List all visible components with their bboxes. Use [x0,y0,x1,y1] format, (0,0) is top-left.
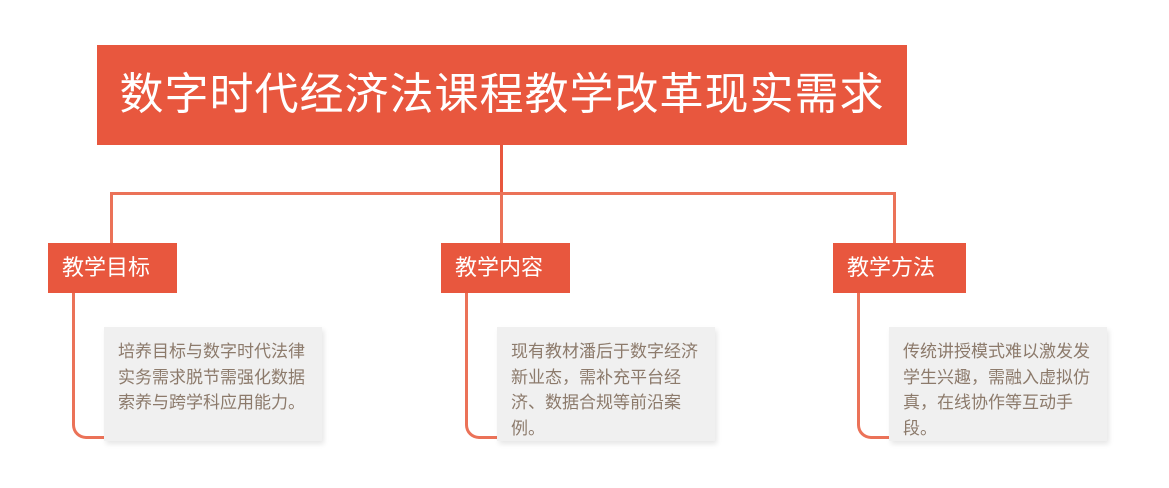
branch-node-label: 教学目标 [62,257,150,279]
branch-node-label: 教学内容 [455,257,543,279]
detail-card-teaching-content: 现有教材潘后于数字经济新业态，需补充平台经济、数据合规等前沿案例。 [497,327,715,441]
detail-card-teaching-methods: 传统讲授模式难以激发发学生兴趣，需融入虚拟仿真，在线协作等互动手段。 [889,327,1107,441]
detail-card-text: 现有教材潘后于数字经济新业态，需补充平台经济、数据合规等前沿案例。 [511,339,701,441]
diagram-title-text: 数字时代经济法课程教学改革现实需求 [120,73,885,117]
connector-horizontal-bus [110,192,896,195]
diagram-title-box: 数字时代经济法课程教学改革现实需求 [97,45,907,145]
detail-card-teaching-objectives: 培养目标与数字时代法律实务需求脱节需强化数据索养与跨学科应用能力。 [104,327,322,441]
branch-node-teaching-objectives: 教学目标 [48,243,177,293]
connector-drop-branch-2 [500,192,503,243]
detail-card-text: 培养目标与数字时代法律实务需求脱节需强化数据索养与跨学科应用能力。 [118,339,308,416]
detail-card-text: 传统讲授模式难以激发发学生兴趣，需融入虚拟仿真，在线协作等互动手段。 [903,339,1093,441]
branch-node-teaching-methods: 教学方法 [833,243,966,293]
diagram-canvas: 数字时代经济法课程教学改革现实需求 教学目标 教学内容 教学方法 培养目标与数字… [0,0,1169,488]
branch-node-teaching-content: 教学内容 [441,243,570,293]
connector-drop-branch-3 [893,192,896,243]
branch-node-label: 教学方法 [847,257,935,279]
connector-drop-branch-1 [110,192,113,243]
connector-title-stem [500,145,503,193]
